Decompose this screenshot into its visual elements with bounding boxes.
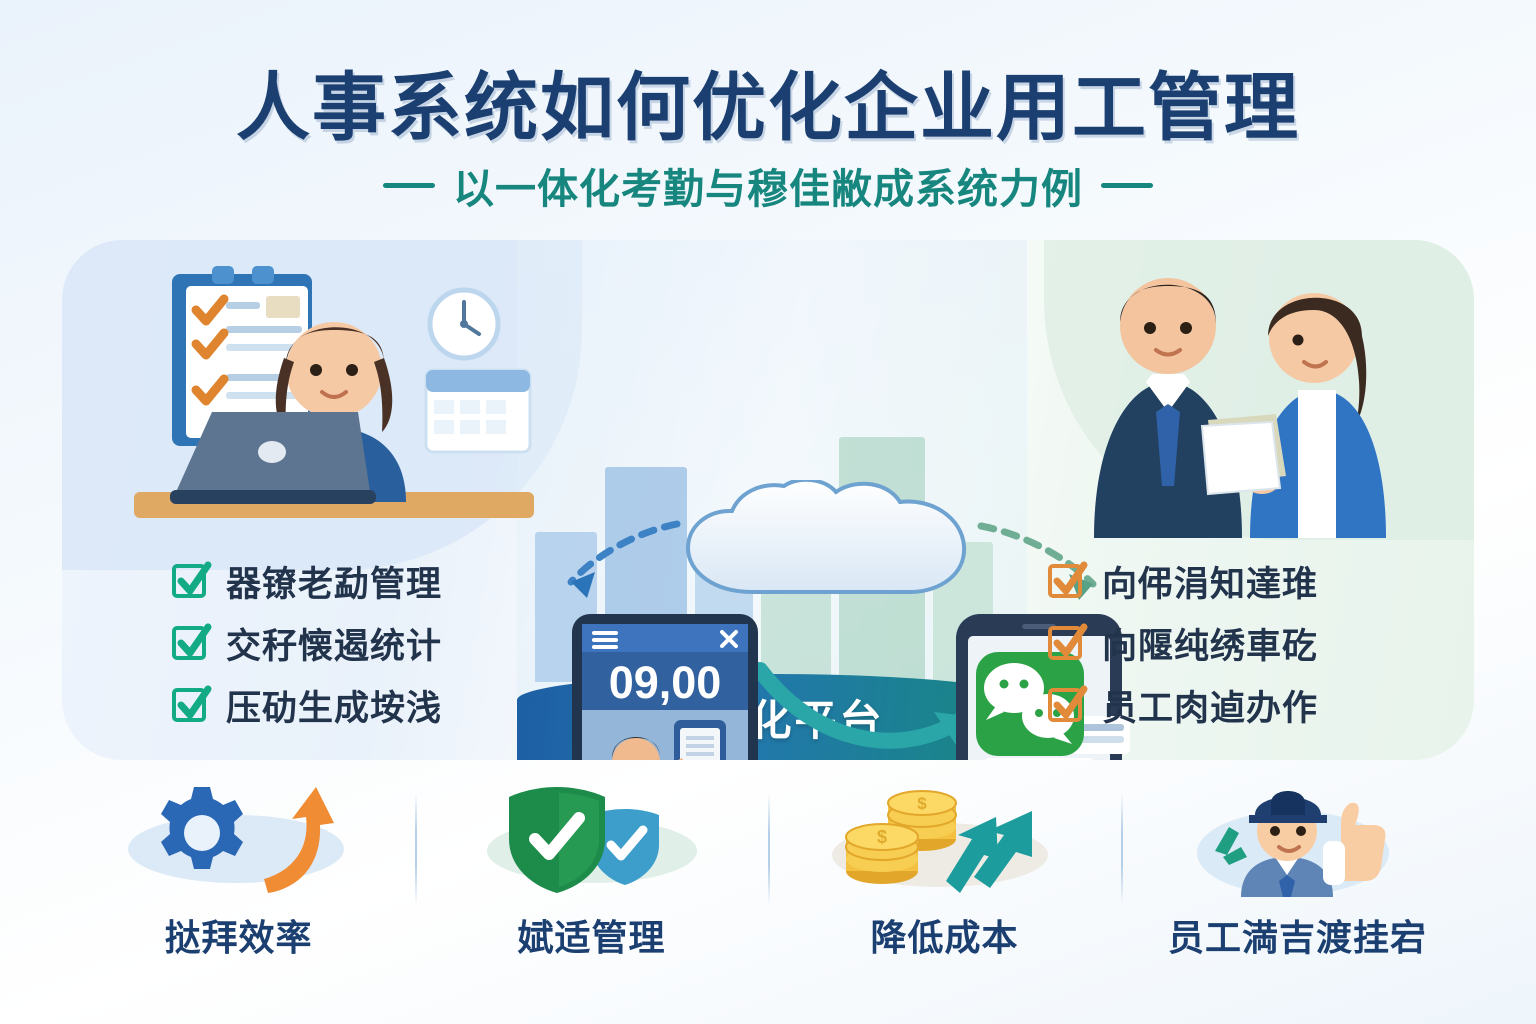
list-item-label: 器镣老勐管理 (226, 556, 442, 607)
hr-officer-illustration (134, 252, 534, 552)
checkbox-green-icon (172, 626, 206, 660)
list-item[interactable]: 交秄懐遏统计 (172, 612, 502, 674)
benefit-label: 挞拜效率 (164, 909, 312, 961)
benefit-cost[interactable]: $ $ 降低成本 (768, 775, 1121, 990)
person-manager (1094, 278, 1253, 538)
checkbox-orange-icon (1048, 688, 1082, 722)
benefit-compliance[interactable]: 娬适管理 (415, 775, 768, 990)
list-item[interactable]: 压劯生成垵浅 (172, 674, 502, 736)
menu-icon (592, 631, 618, 649)
right-feature-list: 向伄涓知達琟 向隁纯绣車矻 员工肉逌办作 (1048, 550, 1378, 736)
svg-text:$: $ (876, 827, 886, 847)
worker-thumbsup-icon (1183, 775, 1413, 897)
benefits-row: 挞拜效率 娬适管理 (62, 775, 1474, 990)
benefit-label: 降低成本 (870, 909, 1018, 961)
svg-text:$: $ (917, 794, 927, 813)
gear-arrow-icon (124, 775, 354, 897)
attendance-tablet[interactable]: 09,00 靦件 莳乇 (570, 612, 760, 760)
list-item[interactable]: 员工肉逌办作 (1048, 674, 1378, 736)
cloud-icon (674, 480, 984, 598)
checkbox-green-icon (172, 564, 206, 598)
benefit-label: 娬适管理 (517, 909, 665, 961)
coin-stack-front: $ (846, 824, 918, 884)
clock-icon (430, 290, 498, 358)
main-panel: 一体化平台 (62, 240, 1474, 760)
document-sheet (1202, 414, 1286, 494)
list-item-label: 交秄懐遏统计 (226, 618, 442, 669)
shield-check-icon (477, 775, 707, 897)
checkbox-orange-icon (1048, 564, 1082, 598)
cloud-arrow-left-icon (527, 510, 687, 620)
page-subtitle: 以一体化考勤与穆佳敝成系统力例 (453, 155, 1083, 215)
checkbox-green-icon (172, 688, 206, 722)
list-item-label: 员工肉逌办作 (1102, 680, 1318, 731)
list-item[interactable]: 向伄涓知達琟 (1048, 550, 1378, 612)
subtitle-row: 以一体化考勤与穆佳敝成系统力例 (0, 155, 1536, 215)
header: 人事系统如何优化企业用工管理 以一体化考勤与穆佳敝成系统力例 (0, 0, 1536, 225)
subtitle-dash-left (383, 183, 435, 188)
benefit-efficiency[interactable]: 挞拜效率 (62, 775, 415, 990)
left-feature-list: 器镣老勐管理 交秄懐遏统计 压劯生成垵浅 (172, 550, 502, 736)
managers-illustration (1036, 248, 1436, 553)
subtitle-dash-right (1101, 183, 1153, 188)
checkbox-orange-icon (1048, 626, 1082, 660)
list-item-label: 向伄涓知達琟 (1102, 556, 1318, 607)
calendar-icon (426, 370, 530, 452)
list-item-label: 压劯生成垵浅 (226, 680, 442, 731)
list-item-label: 向隁纯绣車矻 (1102, 618, 1318, 669)
benefit-label: 员工満吉渡挂宕 (1168, 909, 1427, 961)
clock-in-time: 09,00 (609, 657, 722, 708)
list-item[interactable]: 向隁纯绣車矻 (1048, 612, 1378, 674)
page-title: 人事系统如何优化企业用工管理 (0, 48, 1536, 155)
coins-arrow-icon: $ $ (830, 775, 1060, 897)
benefit-satisfaction[interactable]: 员工満吉渡挂宕 (1121, 775, 1474, 990)
list-item[interactable]: 器镣老勐管理 (172, 550, 502, 612)
